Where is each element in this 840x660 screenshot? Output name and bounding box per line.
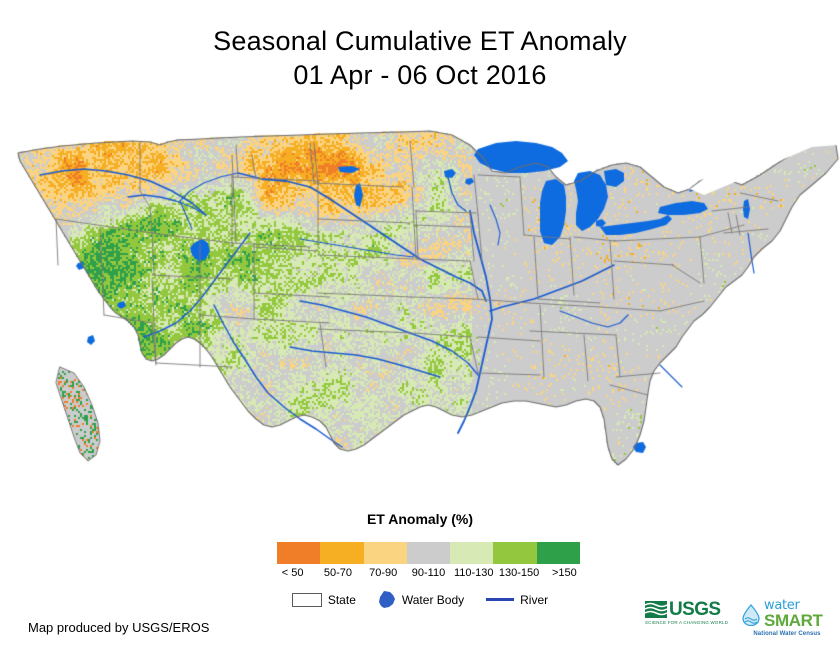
watersmart-logo: water SMART National Water Census xyxy=(741,600,833,637)
title-line-1: Seasonal Cumulative ET Anomaly xyxy=(0,24,840,58)
legend-swatch-label-6: >150 xyxy=(542,566,587,580)
state-label: State xyxy=(328,593,356,607)
legend-swatch-1 xyxy=(320,542,363,564)
symbol-legend-river: River xyxy=(486,593,548,607)
symbol-legend-state: State xyxy=(292,593,356,607)
water-droplet-icon xyxy=(741,604,761,626)
water-body-label: Water Body xyxy=(402,593,464,607)
agency-logos: USGS science for a changing world water … xyxy=(645,600,833,637)
legend-swatch-label-3: 90-110 xyxy=(406,566,451,580)
legend-swatch-label-1: 50-70 xyxy=(315,566,360,580)
usgs-wordmark: USGS xyxy=(669,600,720,619)
legend-swatch-5 xyxy=(493,542,536,564)
usgs-logo: USGS science for a changing world xyxy=(645,600,731,626)
watersmart-smart-word: SMART xyxy=(764,612,822,629)
legend-swatch-0 xyxy=(277,542,320,564)
legend-swatch-4 xyxy=(450,542,493,564)
symbol-legend-water-body: Water Body xyxy=(378,591,464,608)
state-outline-icon xyxy=(292,593,322,607)
page-title: Seasonal Cumulative ET Anomaly 01 Apr - … xyxy=(0,24,840,92)
et-anomaly-map-page: Seasonal Cumulative ET Anomaly 01 Apr - … xyxy=(0,0,840,660)
legend-swatch-6 xyxy=(537,542,580,564)
map-container xyxy=(0,115,840,467)
legend-swatch-3 xyxy=(407,542,450,564)
water-body-icon xyxy=(378,591,396,608)
legend-swatch-label-2: 70-90 xyxy=(361,566,406,580)
legend: ET Anomaly (%) < 5050-7070-9090-110110-1… xyxy=(0,510,840,528)
legend-color-ramp xyxy=(277,542,580,564)
map-credit: Map produced by USGS/EROS xyxy=(28,620,209,635)
legend-ramp-labels: < 5050-7070-9090-110110-130130-150>150 xyxy=(270,566,587,580)
legend-swatch-label-5: 130-150 xyxy=(496,566,541,580)
watersmart-subtitle: National Water Census xyxy=(741,631,833,637)
conus-et-anomaly-raster xyxy=(0,115,840,467)
usgs-tagline: science for a changing world xyxy=(645,620,731,626)
legend-swatch-label-4: 110-130 xyxy=(451,566,496,580)
legend-swatch-2 xyxy=(364,542,407,564)
legend-title: ET Anomaly (%) xyxy=(0,510,840,528)
usgs-wave-icon xyxy=(645,601,667,618)
legend-swatch-label-0: < 50 xyxy=(270,566,315,580)
title-line-2: 01 Apr - 06 Oct 2016 xyxy=(0,58,840,92)
river-label: River xyxy=(520,593,548,607)
river-line-icon xyxy=(486,598,514,601)
